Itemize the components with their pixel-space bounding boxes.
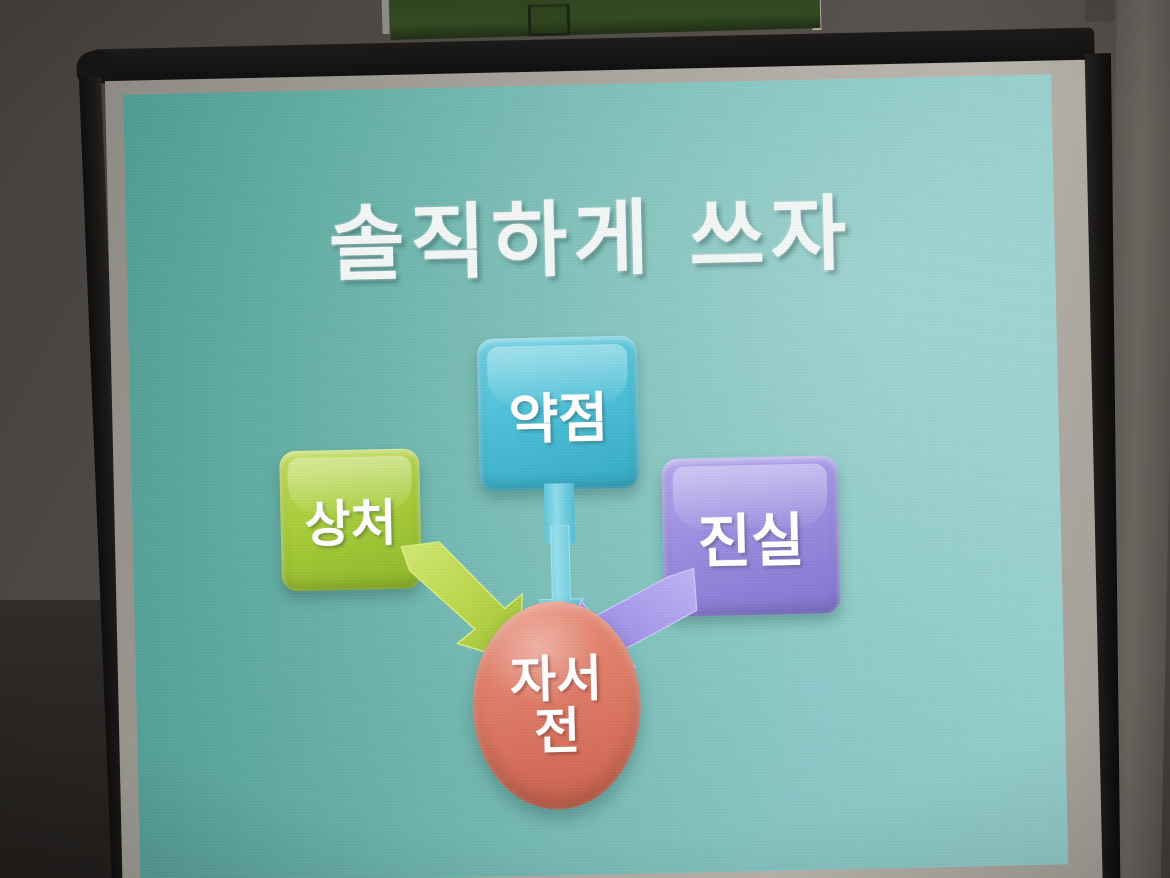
projected-slide: 솔직하게 쓰자 약점 bbox=[123, 74, 1068, 878]
callout-label-wound: 상처 bbox=[304, 483, 398, 557]
callout-label-truth: 진실 bbox=[697, 493, 806, 579]
chalkboard-frame-left bbox=[381, 0, 389, 34]
slide-title: 솔직하게 쓰자 bbox=[125, 162, 1055, 301]
callout-label-weakness: 약점 bbox=[508, 373, 609, 454]
callout-box-weakness: 약점 bbox=[477, 336, 640, 491]
projector-screen: 솔직하게 쓰자 약점 bbox=[64, 15, 1138, 878]
center-node-label-line2: 전 bbox=[534, 705, 581, 758]
center-node-label-line1: 자서 bbox=[510, 652, 603, 706]
screen-fabric: 솔직하게 쓰자 약점 bbox=[105, 60, 1103, 878]
classroom-photo: 솔직하게 쓰자 약점 bbox=[0, 0, 1170, 878]
